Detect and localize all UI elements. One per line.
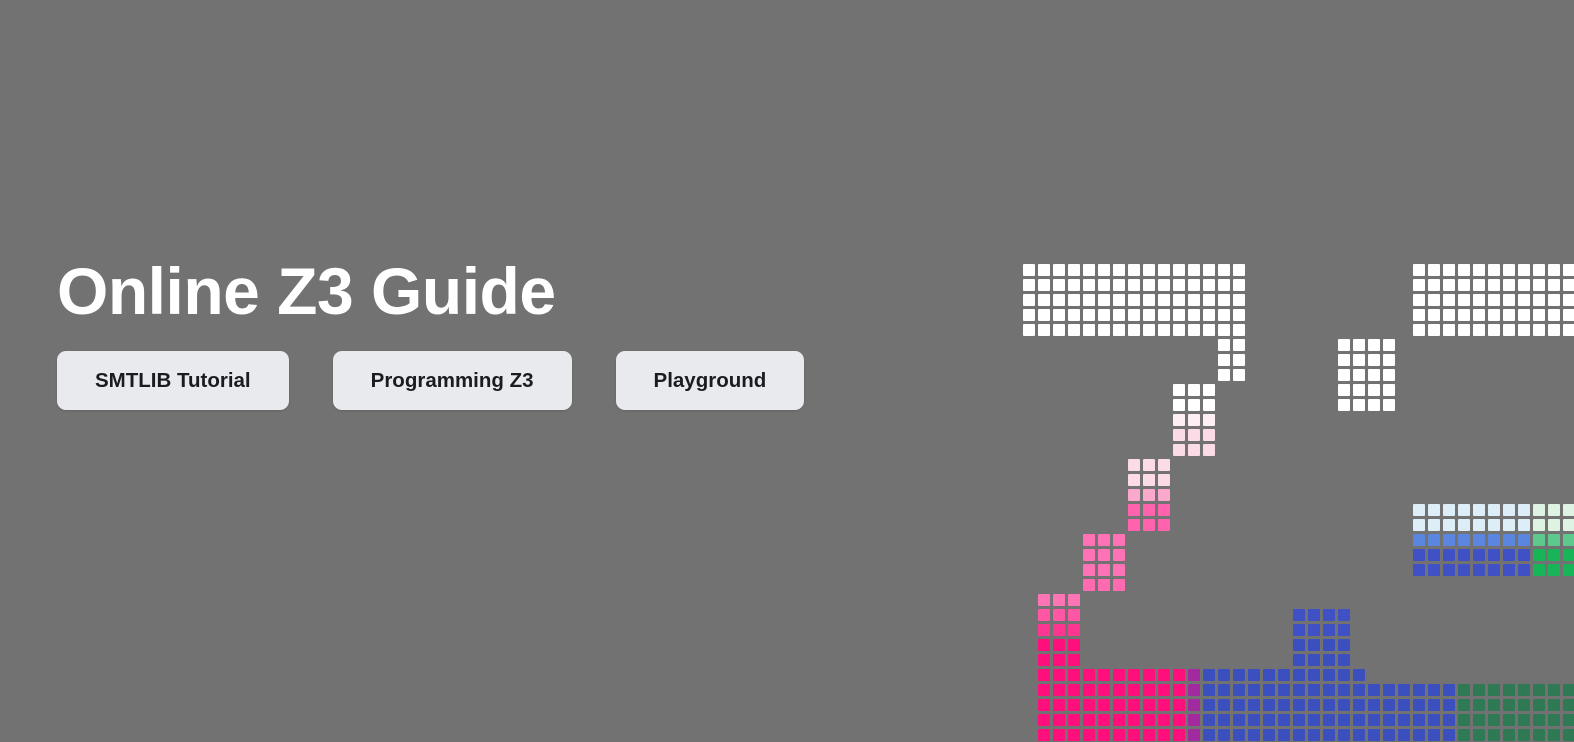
logo-pixel — [1411, 727, 1426, 742]
logo-pixel — [1486, 292, 1501, 307]
logo-pixel — [1531, 292, 1546, 307]
logo-pixel — [1321, 727, 1336, 742]
logo-pixel — [1381, 397, 1396, 412]
logo-pixel — [1486, 712, 1501, 727]
logo-pixel — [1516, 262, 1531, 277]
page-title: Online Z3 Guide — [57, 258, 957, 325]
logo-pixel — [1141, 292, 1156, 307]
logo-pixel — [1216, 307, 1231, 322]
logo-pixel — [1246, 682, 1261, 697]
logo-pixel — [1036, 622, 1051, 637]
logo-pixel — [1321, 607, 1336, 622]
logo-pixel — [1051, 292, 1066, 307]
logo-pixel — [1111, 292, 1126, 307]
logo-pixel — [1561, 277, 1574, 292]
logo-pixel — [1156, 472, 1171, 487]
logo-pixel — [1051, 727, 1066, 742]
logo-pixel — [1066, 292, 1081, 307]
logo-pixel — [1126, 307, 1141, 322]
smtlib-tutorial-button[interactable]: SMTLIB Tutorial — [57, 351, 289, 410]
logo-pixel — [1501, 532, 1516, 547]
logo-pixel — [1441, 682, 1456, 697]
logo-pixel — [1186, 427, 1201, 442]
logo-pixel — [1051, 652, 1066, 667]
logo-pixel — [1321, 712, 1336, 727]
logo-pixel — [1531, 682, 1546, 697]
logo-pixel — [1321, 622, 1336, 637]
logo-pixel — [1306, 712, 1321, 727]
logo-pixel — [1216, 292, 1231, 307]
logo-pixel — [1336, 607, 1351, 622]
logo-pixel — [1021, 292, 1036, 307]
logo-pixel — [1411, 262, 1426, 277]
logo-pixel — [1351, 352, 1366, 367]
logo-pixel — [1456, 547, 1471, 562]
logo-pixel — [1081, 547, 1096, 562]
logo-pixel — [1336, 697, 1351, 712]
logo-pixel — [1471, 262, 1486, 277]
logo-pixel — [1486, 547, 1501, 562]
logo-pixel — [1201, 292, 1216, 307]
logo-pixel — [1036, 637, 1051, 652]
logo-pixel — [1411, 562, 1426, 577]
logo-pixel — [1546, 517, 1561, 532]
logo-pixel — [1156, 307, 1171, 322]
logo-pixel — [1456, 517, 1471, 532]
logo-pixel — [1051, 667, 1066, 682]
logo-pixel — [1171, 442, 1186, 457]
logo-pixel — [1066, 277, 1081, 292]
logo-pixel — [1156, 487, 1171, 502]
logo-pixel — [1441, 547, 1456, 562]
logo-pixel — [1231, 352, 1246, 367]
logo-pixel — [1441, 562, 1456, 577]
logo-pixel — [1066, 622, 1081, 637]
logo-pixel — [1426, 562, 1441, 577]
logo-pixel — [1381, 682, 1396, 697]
logo-pixel — [1096, 697, 1111, 712]
logo-pixel — [1186, 292, 1201, 307]
logo-pixel — [1321, 697, 1336, 712]
logo-pixel — [1546, 277, 1561, 292]
logo-pixel — [1486, 562, 1501, 577]
logo-pixel — [1441, 262, 1456, 277]
logo-pixel — [1216, 367, 1231, 382]
logo-pixel — [1051, 697, 1066, 712]
logo-pixel — [1231, 277, 1246, 292]
logo-pixel — [1291, 622, 1306, 637]
logo-pixel — [1381, 352, 1396, 367]
logo-pixel — [1381, 367, 1396, 382]
logo-pixel — [1321, 637, 1336, 652]
programming-z3-button[interactable]: Programming Z3 — [333, 351, 572, 410]
logo-pixel — [1456, 562, 1471, 577]
logo-pixel — [1426, 262, 1441, 277]
logo-pixel — [1351, 682, 1366, 697]
logo-pixel — [1081, 322, 1096, 337]
logo-pixel — [1141, 697, 1156, 712]
logo-pixel — [1291, 637, 1306, 652]
logo-pixel — [1441, 307, 1456, 322]
logo-pixel — [1051, 277, 1066, 292]
logo-pixel — [1501, 292, 1516, 307]
logo-pixel — [1231, 322, 1246, 337]
logo-pixel — [1066, 637, 1081, 652]
logo-pixel — [1381, 382, 1396, 397]
logo-pixel — [1096, 682, 1111, 697]
logo-pixel — [1126, 262, 1141, 277]
logo-pixel — [1336, 712, 1351, 727]
logo-pixel — [1231, 712, 1246, 727]
logo-pixel — [1141, 682, 1156, 697]
logo-pixel — [1426, 292, 1441, 307]
logo-pixel — [1516, 307, 1531, 322]
logo-pixel — [1351, 382, 1366, 397]
logo-pixel — [1291, 607, 1306, 622]
logo-pixel — [1456, 322, 1471, 337]
logo-pixel — [1486, 532, 1501, 547]
logo-pixel — [1231, 727, 1246, 742]
logo-pixel — [1501, 307, 1516, 322]
logo-pixel — [1486, 727, 1501, 742]
logo-pixel — [1396, 682, 1411, 697]
logo-pixel — [1036, 712, 1051, 727]
logo-pixel — [1141, 307, 1156, 322]
logo-pixel — [1501, 547, 1516, 562]
logo-pixel — [1501, 517, 1516, 532]
logo-pixel — [1126, 322, 1141, 337]
logo-pixel — [1096, 292, 1111, 307]
logo-pixel — [1201, 712, 1216, 727]
logo-pixel — [1186, 307, 1201, 322]
logo-pixel — [1126, 682, 1141, 697]
logo-pixel — [1216, 262, 1231, 277]
logo-pixel — [1186, 397, 1201, 412]
logo-pixel — [1141, 277, 1156, 292]
logo-pixel — [1216, 337, 1231, 352]
logo-pixel — [1501, 262, 1516, 277]
logo-pixel — [1411, 682, 1426, 697]
logo-pixel — [1426, 682, 1441, 697]
logo-pixel — [1396, 712, 1411, 727]
logo-pixel — [1111, 562, 1126, 577]
logo-pixel — [1276, 667, 1291, 682]
logo-pixel — [1051, 682, 1066, 697]
logo-pixel — [1426, 322, 1441, 337]
logo-pixel — [1501, 562, 1516, 577]
logo-pixel — [1171, 322, 1186, 337]
logo-pixel — [1141, 322, 1156, 337]
logo-pixel — [1036, 292, 1051, 307]
logo-pixel — [1441, 292, 1456, 307]
logo-pixel — [1126, 277, 1141, 292]
logo-pixel — [1366, 382, 1381, 397]
hero-button-row: SMTLIB Tutorial Programming Z3 Playgroun… — [57, 351, 957, 410]
logo-pixel — [1081, 682, 1096, 697]
logo-pixel — [1081, 562, 1096, 577]
logo-pixel — [1156, 502, 1171, 517]
logo-pixel — [1201, 667, 1216, 682]
logo-pixel — [1141, 517, 1156, 532]
logo-pixel — [1381, 712, 1396, 727]
logo-pixel — [1036, 682, 1051, 697]
logo-pixel — [1546, 322, 1561, 337]
logo-pixel — [1171, 667, 1186, 682]
logo-pixel — [1456, 532, 1471, 547]
logo-pixel — [1216, 322, 1231, 337]
logo-pixel — [1546, 727, 1561, 742]
logo-pixel — [1171, 277, 1186, 292]
logo-pixel — [1456, 697, 1471, 712]
logo-pixel — [1066, 322, 1081, 337]
logo-pixel — [1081, 277, 1096, 292]
logo-pixel — [1411, 307, 1426, 322]
logo-pixel — [1126, 487, 1141, 502]
logo-pixel — [1516, 502, 1531, 517]
logo-pixel — [1246, 667, 1261, 682]
logo-pixel — [1546, 712, 1561, 727]
logo-pixel — [1126, 727, 1141, 742]
logo-pixel — [1546, 697, 1561, 712]
logo-pixel — [1411, 712, 1426, 727]
logo-pixel — [1186, 712, 1201, 727]
logo-pixel — [1486, 682, 1501, 697]
logo-pixel — [1366, 697, 1381, 712]
logo-pixel — [1441, 697, 1456, 712]
logo-pixel — [1426, 547, 1441, 562]
logo-pixel — [1411, 547, 1426, 562]
logo-pixel — [1186, 412, 1201, 427]
logo-pixel — [1426, 502, 1441, 517]
logo-pixel — [1051, 607, 1066, 622]
logo-pixel — [1426, 712, 1441, 727]
logo-pixel — [1456, 682, 1471, 697]
logo-pixel — [1336, 667, 1351, 682]
logo-pixel — [1561, 547, 1574, 562]
logo-pixel — [1531, 712, 1546, 727]
logo-pixel — [1501, 727, 1516, 742]
logo-pixel — [1426, 727, 1441, 742]
logo-pixel — [1261, 727, 1276, 742]
logo-pixel — [1546, 307, 1561, 322]
logo-pixel — [1531, 322, 1546, 337]
logo-pixel — [1231, 697, 1246, 712]
logo-pixel — [1486, 697, 1501, 712]
playground-button[interactable]: Playground — [616, 351, 805, 410]
logo-pixel — [1516, 322, 1531, 337]
logo-pixel — [1471, 712, 1486, 727]
logo-pixel — [1081, 262, 1096, 277]
logo-pixel — [1066, 727, 1081, 742]
logo-pixel — [1411, 277, 1426, 292]
logo-pixel — [1216, 697, 1231, 712]
logo-pixel — [1156, 457, 1171, 472]
logo-pixel — [1486, 502, 1501, 517]
logo-pixel — [1516, 292, 1531, 307]
logo-pixel — [1216, 727, 1231, 742]
logo-pixel — [1486, 277, 1501, 292]
logo-pixel — [1141, 472, 1156, 487]
logo-pixel — [1516, 712, 1531, 727]
logo-pixel — [1441, 532, 1456, 547]
logo-pixel — [1066, 307, 1081, 322]
logo-pixel — [1366, 682, 1381, 697]
logo-pixel — [1501, 277, 1516, 292]
logo-pixel — [1171, 727, 1186, 742]
logo-pixel — [1531, 262, 1546, 277]
logo-pixel — [1231, 307, 1246, 322]
logo-pixel — [1141, 457, 1156, 472]
logo-pixel — [1201, 262, 1216, 277]
logo-pixel — [1546, 532, 1561, 547]
logo-pixel — [1096, 667, 1111, 682]
logo-pixel — [1336, 652, 1351, 667]
logo-pixel — [1441, 277, 1456, 292]
logo-pixel — [1471, 532, 1486, 547]
logo-pixel — [1156, 322, 1171, 337]
logo-pixel — [1441, 322, 1456, 337]
logo-pixel — [1561, 292, 1574, 307]
logo-pixel — [1156, 697, 1171, 712]
logo-pixel — [1381, 337, 1396, 352]
logo-pixel — [1531, 547, 1546, 562]
logo-pixel — [1561, 712, 1574, 727]
logo-pixel — [1336, 727, 1351, 742]
logo-pixel — [1051, 307, 1066, 322]
logo-pixel — [1156, 712, 1171, 727]
logo-pixel — [1141, 667, 1156, 682]
logo-pixel — [1231, 292, 1246, 307]
logo-pixel — [1096, 712, 1111, 727]
logo-pixel — [1456, 502, 1471, 517]
logo-pixel — [1531, 697, 1546, 712]
logo-pixel — [1456, 262, 1471, 277]
logo-pixel — [1081, 712, 1096, 727]
logo-pixel — [1111, 682, 1126, 697]
logo-pixel — [1246, 727, 1261, 742]
logo-pixel — [1096, 322, 1111, 337]
logo-pixel — [1021, 262, 1036, 277]
logo-pixel — [1156, 262, 1171, 277]
logo-pixel — [1276, 727, 1291, 742]
logo-pixel — [1306, 637, 1321, 652]
logo-pixel — [1411, 532, 1426, 547]
logo-pixel — [1291, 712, 1306, 727]
logo-pixel — [1111, 307, 1126, 322]
logo-pixel — [1531, 562, 1546, 577]
logo-pixel — [1546, 562, 1561, 577]
logo-pixel — [1126, 697, 1141, 712]
logo-pixel — [1171, 262, 1186, 277]
logo-pixel — [1036, 727, 1051, 742]
logo-pixel — [1081, 292, 1096, 307]
logo-pixel — [1456, 712, 1471, 727]
logo-pixel — [1231, 667, 1246, 682]
logo-pixel — [1561, 502, 1574, 517]
logo-pixel — [1201, 682, 1216, 697]
logo-pixel — [1471, 562, 1486, 577]
logo-pixel — [1471, 697, 1486, 712]
logo-pixel — [1336, 397, 1351, 412]
logo-pixel — [1471, 307, 1486, 322]
logo-pixel — [1486, 262, 1501, 277]
logo-pixel — [1546, 262, 1561, 277]
logo-pixel — [1531, 727, 1546, 742]
logo-pixel — [1201, 727, 1216, 742]
logo-pixel — [1066, 592, 1081, 607]
logo-pixel — [1111, 262, 1126, 277]
logo-pixel — [1051, 637, 1066, 652]
logo-pixel — [1306, 622, 1321, 637]
logo-pixel — [1111, 322, 1126, 337]
logo-pixel — [1066, 262, 1081, 277]
logo-pixel — [1366, 727, 1381, 742]
logo-pixel — [1306, 652, 1321, 667]
logo-pixel — [1096, 562, 1111, 577]
logo-pixel — [1036, 262, 1051, 277]
logo-pixel — [1501, 322, 1516, 337]
logo-pixel — [1156, 517, 1171, 532]
logo-pixel — [1486, 517, 1501, 532]
logo-pixel — [1021, 322, 1036, 337]
logo-pixel — [1516, 532, 1531, 547]
logo-pixel — [1141, 502, 1156, 517]
logo-pixel — [1186, 262, 1201, 277]
logo-pixel — [1081, 667, 1096, 682]
logo-pixel — [1201, 277, 1216, 292]
logo-pixel — [1351, 712, 1366, 727]
logo-pixel — [1051, 322, 1066, 337]
logo-pixel — [1561, 322, 1574, 337]
logo-pixel — [1261, 712, 1276, 727]
logo-pixel — [1111, 667, 1126, 682]
logo-pixel — [1261, 697, 1276, 712]
logo-pixel — [1411, 502, 1426, 517]
logo-pixel — [1201, 382, 1216, 397]
logo-pixel — [1096, 577, 1111, 592]
logo-pixel — [1081, 697, 1096, 712]
logo-pixel — [1036, 322, 1051, 337]
logo-pixel — [1351, 367, 1366, 382]
logo-pixel — [1501, 712, 1516, 727]
logo-pixel — [1201, 397, 1216, 412]
logo-pixel — [1096, 277, 1111, 292]
logo-pixel — [1456, 277, 1471, 292]
logo-pixel — [1366, 352, 1381, 367]
logo-pixel — [1441, 517, 1456, 532]
logo-pixel — [1351, 667, 1366, 682]
logo-pixel — [1171, 307, 1186, 322]
logo-pixel — [1171, 697, 1186, 712]
logo-pixel — [1426, 307, 1441, 322]
logo-pixel — [1141, 712, 1156, 727]
logo-pixel — [1156, 292, 1171, 307]
logo-pixel — [1366, 712, 1381, 727]
logo-pixel — [1411, 292, 1426, 307]
logo-pixel — [1186, 277, 1201, 292]
logo-pixel — [1546, 682, 1561, 697]
logo-pixel — [1561, 682, 1574, 697]
logo-pixel — [1336, 352, 1351, 367]
logo-pixel — [1336, 337, 1351, 352]
logo-pixel — [1276, 712, 1291, 727]
logo-pixel — [1216, 712, 1231, 727]
logo-pixel — [1201, 307, 1216, 322]
logo-pixel — [1561, 562, 1574, 577]
logo-pixel — [1081, 577, 1096, 592]
logo-pixel — [1471, 727, 1486, 742]
logo-pixel — [1171, 427, 1186, 442]
